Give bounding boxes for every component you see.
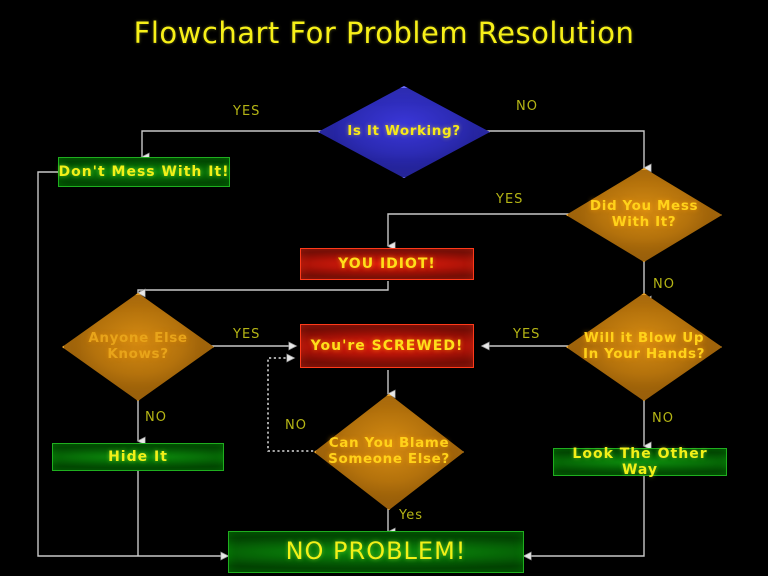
node-you-idiot[interactable]: YOU IDIOT!	[300, 248, 474, 280]
edge-mess-yes	[388, 214, 572, 246]
edge-label-working-yes: YES	[233, 104, 260, 119]
edge-label-mess-yes: YES	[496, 192, 523, 207]
node-label: Is It Working?	[347, 124, 460, 140]
node-label: Can You Blame Someone Else?	[328, 436, 450, 467]
node-label: YOU IDIOT!	[338, 256, 436, 272]
edge-label-knows-no: NO	[145, 410, 167, 425]
node-did-you-mess-with-it[interactable]: Did You Mess With It?	[566, 168, 722, 262]
node-youre-screwed[interactable]: You're SCREWED!	[300, 324, 474, 368]
edge-label-mess-no: NO	[653, 277, 675, 292]
edge-label-blame-yes: Yes	[399, 508, 423, 523]
node-label: Will it Blow Up In Your Hands?	[583, 331, 705, 362]
node-label: Look The Other Way	[553, 446, 727, 478]
edge-idiot-to-knows	[138, 281, 388, 293]
node-will-it-blow-up[interactable]: Will it Blow Up In Your Hands?	[566, 293, 722, 401]
node-hide-it[interactable]: Hide It	[52, 443, 224, 471]
edge-working-no	[482, 131, 644, 168]
node-look-the-other-way[interactable]: Look The Other Way	[553, 448, 727, 476]
edge-working-yes	[142, 131, 326, 157]
node-dont-mess-with-it[interactable]: Don't Mess With It!	[58, 157, 230, 187]
edge-label-blowup-no: NO	[652, 411, 674, 426]
edge-blame-no-dotted	[268, 358, 318, 451]
node-no-problem[interactable]: NO PROBLEM!	[228, 531, 524, 573]
edge-look-to-noproblem	[524, 473, 644, 556]
edge-label-working-no: NO	[516, 99, 538, 114]
node-can-you-blame[interactable]: Can You Blame Someone Else?	[314, 394, 464, 510]
edge-label-blowup-yes: YES	[513, 327, 540, 342]
node-anyone-else-knows[interactable]: Anyone Else Knows?	[62, 293, 214, 401]
edge-label-blame-no: NO	[285, 418, 307, 433]
node-label: You're SCREWED!	[311, 338, 464, 354]
node-label: NO PROBLEM!	[286, 538, 467, 566]
edge-label-knows-yes: YES	[233, 327, 260, 342]
node-label: Hide It	[108, 449, 168, 465]
node-label: Anyone Else Knows?	[88, 331, 187, 362]
page-title: Flowchart For Problem Resolution	[0, 16, 768, 50]
node-label: Don't Mess With It!	[58, 164, 229, 180]
flowchart-canvas: Flowchart For Problem Resolution YES NO …	[0, 0, 768, 576]
node-is-it-working[interactable]: Is It Working?	[318, 86, 490, 178]
node-label: Did You Mess With It?	[590, 199, 698, 230]
